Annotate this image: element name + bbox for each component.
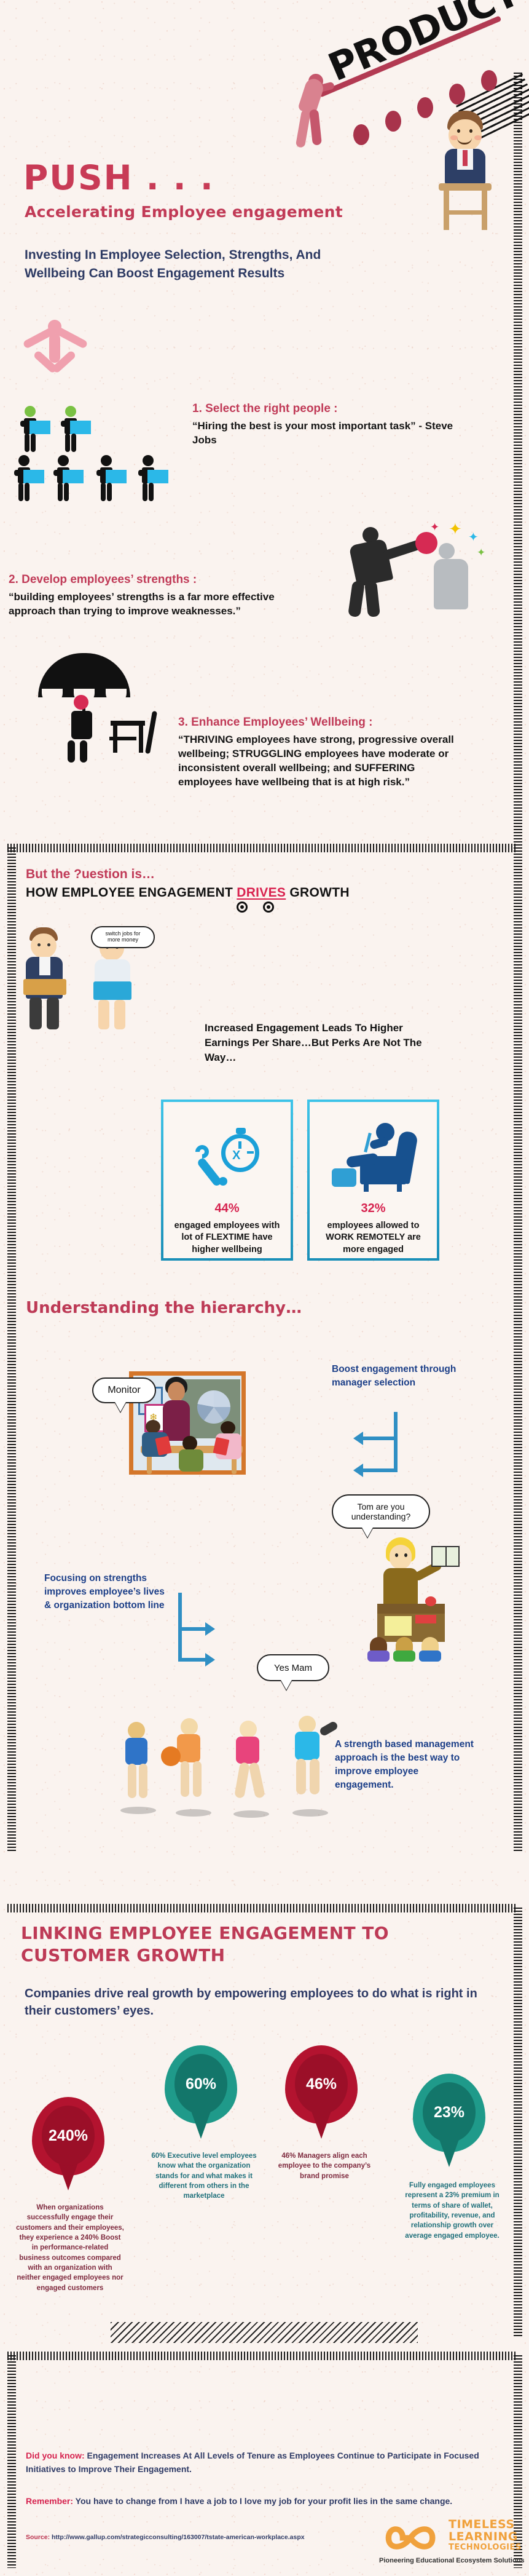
teacher-reading-illustration xyxy=(356,1537,479,1660)
question-line-1: But the ?uestion is… xyxy=(26,867,155,882)
pin-caption-60: 60% Executive level employees know what … xyxy=(150,2151,258,2201)
hero-lead-text: Investing In Employee Selection, Strengt… xyxy=(25,246,369,283)
pin-value: 23% xyxy=(423,2082,476,2142)
recliner-laptop-icon xyxy=(328,1123,426,1192)
stat-card-remote: 32% employees allowed to WORK REMOTELY a… xyxy=(307,1100,439,1261)
cheering-person-pink-icon xyxy=(18,320,92,394)
stat-card-text: engaged employees with lot of FLEXTIME h… xyxy=(168,1220,286,1256)
source-url[interactable]: http://www.gallup.com/strategicconsultin… xyxy=(50,2534,304,2541)
pin-value: 60% xyxy=(174,2054,227,2114)
boy-on-stool-illustration xyxy=(430,111,504,234)
stat-card-percent: 44% xyxy=(163,1202,291,1216)
did-you-know-line: Did you know: Engagement Increases At Al… xyxy=(26,2449,493,2476)
wrench-stopwatch-icon: X xyxy=(194,1124,268,1186)
target-icon xyxy=(237,902,248,913)
product-ball xyxy=(385,111,401,132)
remember-text: You have to change from I have a job to … xyxy=(73,2496,452,2506)
product-ball xyxy=(449,84,465,105)
section3-bottom-bars xyxy=(7,2352,517,2360)
worker-pictogram-green xyxy=(57,406,95,455)
speech-bubble-tail xyxy=(280,1679,292,1690)
worker-pictogram-green xyxy=(16,406,54,455)
point-2-title: 2. Develop employees’ strengths : xyxy=(9,573,197,587)
speech-bubble-monitor: Monitor xyxy=(92,1377,156,1403)
point-2-body: “building employees’ strengths is a far … xyxy=(9,590,316,619)
page-title: PUSH . . . xyxy=(23,161,214,195)
worker-pictogram-black xyxy=(134,455,172,510)
remember-key: Remember: xyxy=(26,2496,73,2506)
section2-right-bars xyxy=(514,847,522,1851)
section1-left-bars xyxy=(514,73,522,854)
pin-marker-240: 240% xyxy=(32,2097,104,2189)
speech-bubble-tail xyxy=(361,1526,374,1537)
source-line[interactable]: Source: http://www.gallup.com/strategicc… xyxy=(26,2534,305,2541)
section3-right-bars xyxy=(514,1908,522,2338)
worker-pictogram-black xyxy=(92,455,130,510)
speech-bubble-tail xyxy=(114,1401,127,1412)
point-3-title: 3. Enhance Employees’ Wellbeing : xyxy=(178,716,372,729)
pin-marker-46: 46% xyxy=(285,2045,358,2138)
product-ball xyxy=(481,70,497,91)
manager-helping-illustration: ✦ ✦ ✦ ✦ xyxy=(307,520,510,643)
lead-stat-text: Increased Engagement Leads To Higher Ear… xyxy=(205,1021,450,1064)
point-3-body: “THRIVING employees have strong, progres… xyxy=(178,733,467,790)
customer-growth-title: LINKING EMPLOYEE ENGAGEMENT TO CUSTOMER … xyxy=(21,1922,439,1967)
footer-left-bars xyxy=(7,2355,16,2568)
note-focus-strengths: Focusing on strengths improves employee’… xyxy=(44,1572,167,1612)
desk-chair-icon xyxy=(104,707,172,766)
note-boost-engagement: Boost engagement through manager selecti… xyxy=(332,1363,461,1390)
customer-growth-subtitle: Companies drive real growth by empowerin… xyxy=(25,1985,492,2019)
point-1-title: 1. Select the right people : xyxy=(192,402,338,416)
worker-pictogram-black xyxy=(10,455,48,510)
pin-marker-60: 60% xyxy=(165,2045,237,2138)
question-line2-pre: HOW EMPLOYEE ENGAGEMENT xyxy=(26,886,237,900)
drives-word: DRIVES xyxy=(237,886,286,900)
pin-value: 240% xyxy=(42,2106,95,2166)
target-icon xyxy=(263,902,274,913)
pushing-person-illustration xyxy=(294,74,337,154)
arrow-hook-down-left xyxy=(335,1412,415,1480)
logo-line-2: LEARNING xyxy=(449,2531,518,2543)
worker-pictogram-black xyxy=(49,455,87,510)
question-line2-post: GROWTH xyxy=(286,886,350,900)
note-strength-based-management: A strength based management approach is … xyxy=(335,1738,476,1792)
remember-line: Remember: You have to change from I have… xyxy=(26,2494,505,2508)
speech-bubble-yes-mam: Yes Mam xyxy=(257,1654,329,1681)
logo-line-1: TIMELESS xyxy=(449,2519,515,2530)
did-you-know-text: Engagement Increases At All Levels of Te… xyxy=(26,2451,479,2474)
product-ball xyxy=(353,124,369,145)
question-line-2: HOW EMPLOYEE ENGAGEMENT DRIVES GROWTH xyxy=(26,886,350,900)
did-you-know-key: Did you know: xyxy=(26,2451,85,2460)
athletes-illustration xyxy=(111,1710,369,1851)
pin-caption-46: 46% Managers align each employee to the … xyxy=(270,2151,378,2181)
section1-bottom-bars xyxy=(7,844,517,852)
section2-left-bars xyxy=(7,847,16,1851)
speech-bubble-tom: Tom are you understanding? xyxy=(332,1494,430,1529)
page-subtitle: Accelerating Employee engagement xyxy=(25,203,343,221)
infinity-logo-icon xyxy=(376,2518,444,2558)
pin-caption-240: When organizations successfully engage t… xyxy=(16,2203,124,2293)
stat-card-flextime: X 44% engaged employees with lot of FLEX… xyxy=(161,1100,293,1261)
logo-line-3: TECHNOLOGIES xyxy=(449,2543,522,2551)
infographic-page: PRODUCT PUSH . . . Accelerating Employee… xyxy=(0,0,529,2576)
arrow-hook-down-right xyxy=(178,1593,258,1666)
stat-card-text: employees allowed to WORK REMOTELY are m… xyxy=(315,1220,432,1256)
section2-bottom-bars xyxy=(7,1904,517,1912)
chevron-divider xyxy=(111,2322,418,2343)
logo-tagline: Pioneering Educational Ecosystem Solutio… xyxy=(379,2557,525,2564)
source-key: Source: xyxy=(26,2534,50,2541)
stat-card-percent: 32% xyxy=(310,1202,437,1216)
speech-bubble-switch-jobs: switch jobs for more money xyxy=(91,926,155,948)
hierarchy-title: Understanding the hierarchy… xyxy=(26,1299,302,1317)
point-1-body: “Hiring the best is your most important … xyxy=(192,419,457,448)
pin-caption-23: Fully engaged employees represent a 23% … xyxy=(398,2181,506,2241)
pin-marker-23: 23% xyxy=(413,2074,485,2166)
pin-value: 46% xyxy=(295,2054,348,2114)
